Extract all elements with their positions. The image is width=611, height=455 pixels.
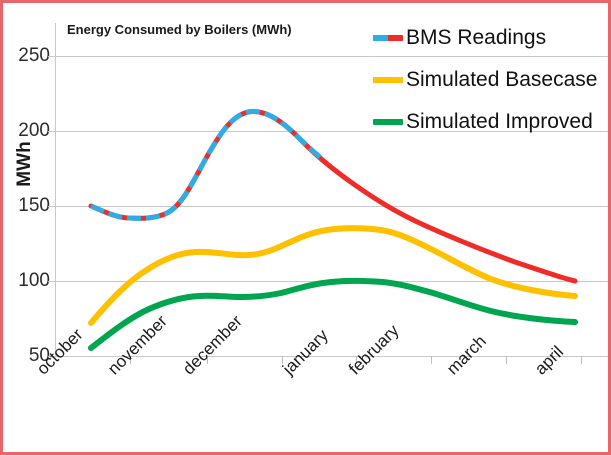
chart-frame: Energy Consumed by Boilers (MWh) MWh 250… <box>0 0 611 455</box>
y-tick-label-250: 250 <box>6 46 50 65</box>
legend-item-simulated-improved[interactable]: Simulated Improved <box>373 101 611 143</box>
y-tick-label-100: 100 <box>6 271 50 290</box>
legend-item-simulated-basecase[interactable]: Simulated Basecase <box>373 59 611 101</box>
legend-item-bms-readings[interactable]: BMS Readings <box>373 17 611 59</box>
legend-swatch-bms-readings-icon <box>373 35 403 41</box>
legend-label-simulated-improved: Simulated Improved <box>406 110 593 134</box>
legend-label-simulated-basecase: Simulated Basecase <box>406 68 597 92</box>
y-tick-label-150: 150 <box>6 196 50 215</box>
x-tick-5 <box>431 356 432 364</box>
series-line-bms-overlay <box>91 111 321 218</box>
legend-swatch-simulated-basecase-icon <box>373 77 403 83</box>
legend-label-bms-readings: BMS Readings <box>406 26 546 50</box>
chart-title: Energy Consumed by Boilers (MWh) <box>67 22 292 37</box>
y-tick-label-200: 200 <box>6 121 50 140</box>
series-line-simulated-improved <box>91 281 575 348</box>
chart-legend: BMS Readings Simulated Basecase Simulate… <box>373 17 611 143</box>
y-axis-labels: 250 200 150 100 50 <box>3 3 50 455</box>
x-tick-7 <box>581 356 582 364</box>
x-tick-6 <box>506 356 507 364</box>
series-line-simulated-basecase <box>91 228 575 323</box>
legend-swatch-simulated-improved-icon <box>373 119 403 125</box>
